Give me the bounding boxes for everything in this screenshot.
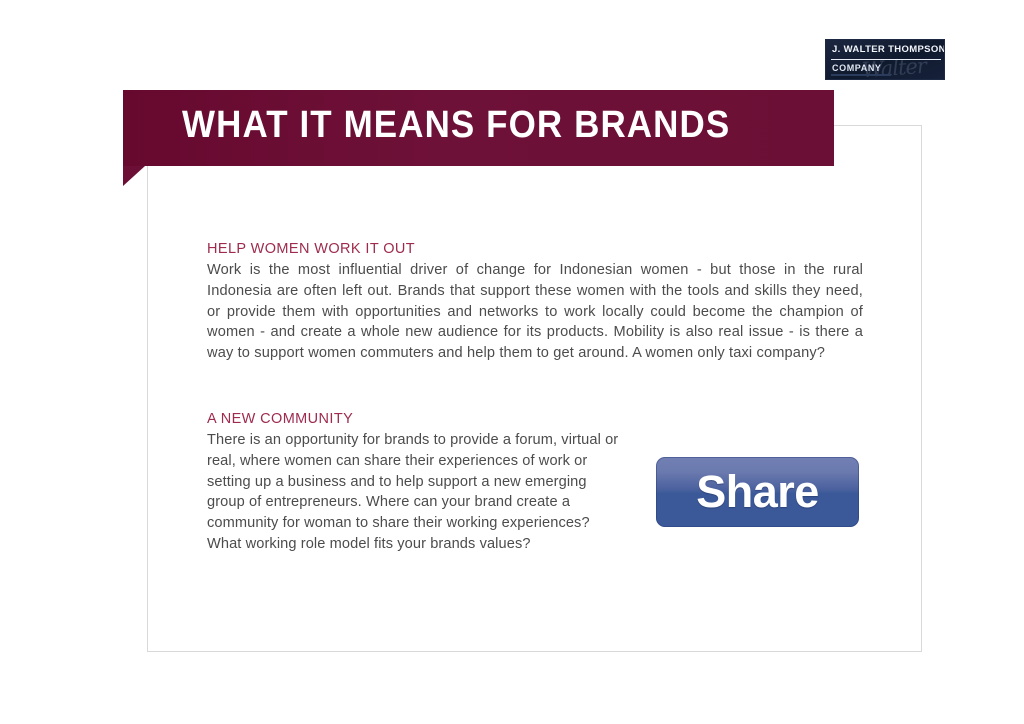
logo-accent-bar (831, 74, 891, 76)
section-body: There is an opportunity for brands to pr… (207, 430, 627, 555)
section-body: Work is the most influential driver of c… (207, 260, 863, 364)
section-a-new-community: A NEW COMMUNITY There is an opportunity … (207, 411, 627, 555)
logo-company-name: J. WALTER THOMPSON (832, 44, 945, 55)
logo-company-suffix: COMPANY (832, 63, 882, 73)
page-title: WHAT IT MEANS FOR BRANDS (182, 104, 730, 147)
logo-divider-rule (831, 59, 941, 60)
share-button[interactable]: Share (656, 457, 859, 527)
title-banner-tail-icon (123, 166, 145, 186)
slide-canvas: Walter J. WALTER THOMPSON COMPANY WHAT I… (0, 0, 1024, 724)
section-heading: A NEW COMMUNITY (207, 411, 627, 427)
section-help-women-work-it-out: HELP WOMEN WORK IT OUT Work is the most … (207, 241, 863, 364)
share-button-label: Share (696, 469, 819, 514)
content-frame (147, 125, 922, 652)
section-heading: HELP WOMEN WORK IT OUT (207, 241, 863, 257)
jwt-logo: Walter J. WALTER THOMPSON COMPANY (825, 39, 945, 80)
